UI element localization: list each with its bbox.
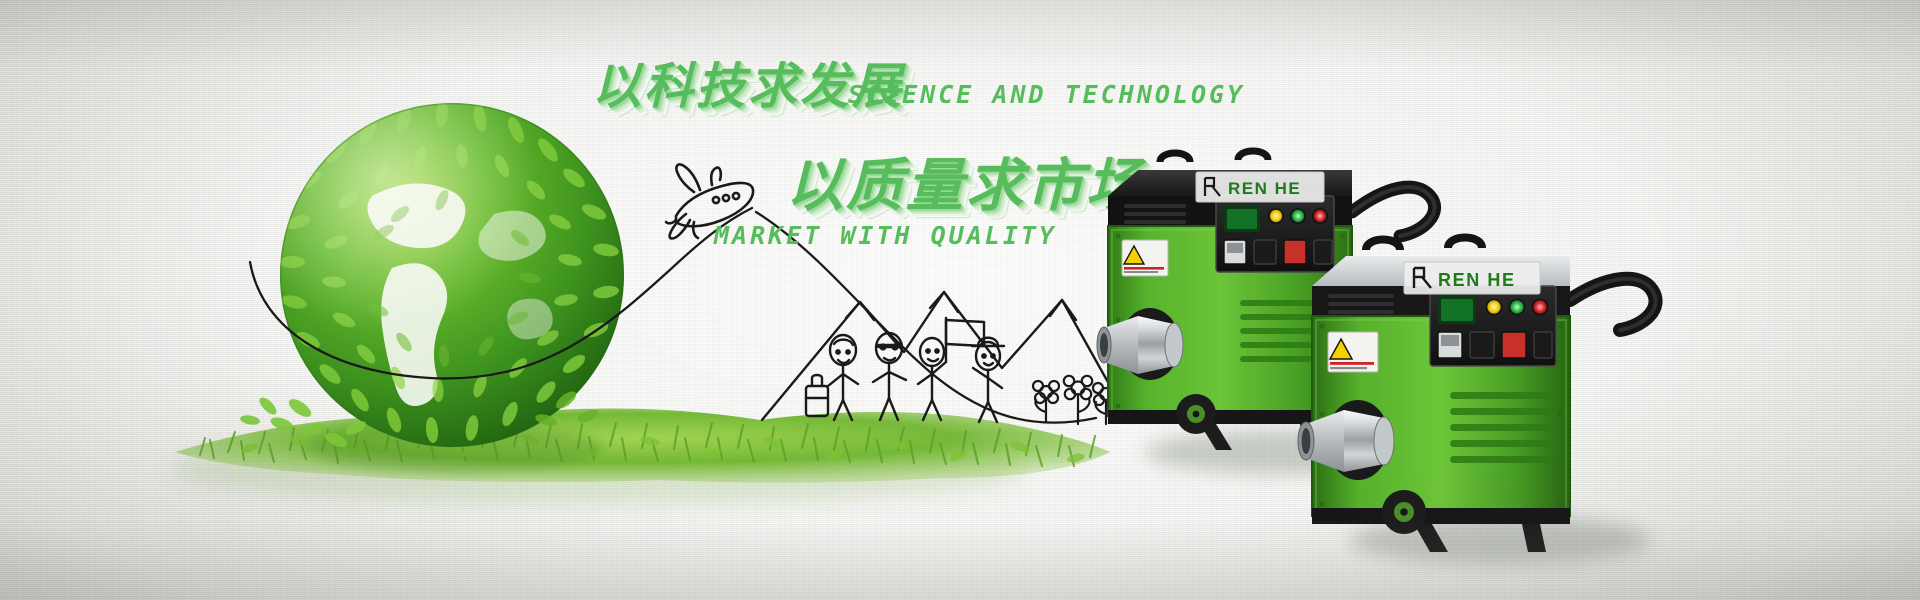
indicator-light-red: [1313, 209, 1327, 223]
machine-front[interactable]: REN HE: [1298, 238, 1656, 565]
warning-label-front: [1328, 332, 1378, 372]
brand-logo-front: REN HE: [1404, 262, 1540, 294]
caster-wheel-front: [1382, 490, 1426, 534]
brand-text-back: REN HE: [1228, 179, 1301, 198]
caster-wheel-back: [1176, 394, 1216, 434]
brand-logo-back: REN HE: [1196, 172, 1324, 202]
indicator-light-red-front: [1533, 300, 1548, 315]
brand-text-front: REN HE: [1438, 270, 1516, 290]
carry-handle-front: [1366, 240, 1400, 251]
indicator-light-green-front: [1510, 300, 1525, 315]
banner-root: 以科技求发展 SCIENCE AND TECHNOLOGY 以质量求市场 MAR…: [0, 0, 1920, 600]
products-layer: REN HE: [0, 0, 1920, 600]
warning-label-back: [1122, 240, 1168, 276]
indicator-light-yellow-front: [1487, 300, 1502, 315]
indicator-light-green: [1291, 209, 1305, 223]
carry-handle: [1160, 153, 1190, 162]
indicator-light-yellow: [1269, 209, 1283, 223]
